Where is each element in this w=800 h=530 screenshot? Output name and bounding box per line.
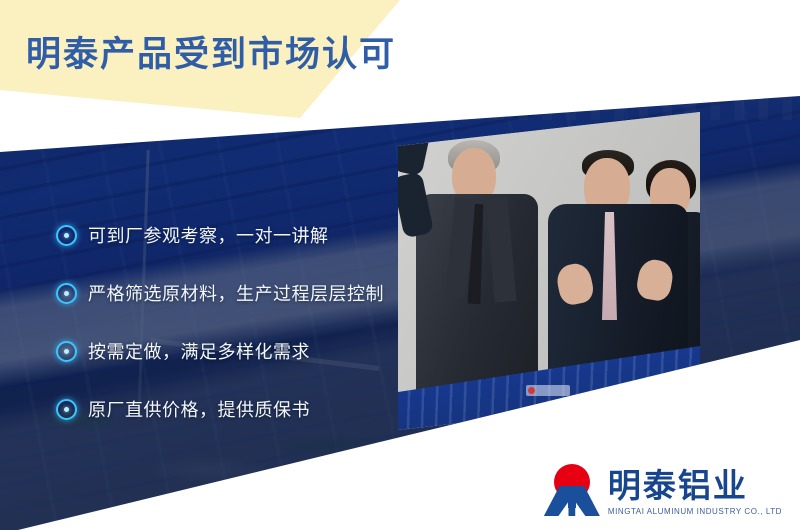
logo-company-name-cn: 明泰铝业 [608,469,782,504]
feature-text: 可到厂参观考察，一对一讲解 [88,222,329,248]
target-ring-icon [56,283,77,304]
logo-company-name-en: MINGTAI ALUMINUM INDUSTRY CO., LTD [608,507,782,516]
company-logo: 明泰铝业 MINGTAI ALUMINUM INDUSTRY CO., LTD [544,464,782,516]
list-item: 按需定做，满足多样化需求 [56,322,396,380]
feature-text: 按需定做，满足多样化需求 [88,338,310,364]
list-item: 可到厂参观考察，一对一讲解 [56,206,396,264]
target-ring-icon [56,399,77,420]
feature-text: 原厂直供价格，提供质保书 [88,396,310,422]
cross-icon [568,486,576,508]
promo-banner: 明泰产品受到市场认可 可到厂参观考察，一对一讲解 严格筛选原材料，生产过程层层控… [0,0,800,530]
target-ring-icon [56,341,77,362]
photo-factory-signage [526,385,570,396]
list-item: 严格筛选原材料，生产过程层层控制 [56,264,396,322]
page-title: 明泰产品受到市场认可 [26,26,396,77]
feature-text: 严格筛选原材料，生产过程层层控制 [88,280,384,306]
mingtai-mark-icon [544,464,600,516]
list-item: 原厂直供价格，提供质保书 [56,380,396,438]
logo-text-block: 明泰铝业 MINGTAI ALUMINUM INDUSTRY CO., LTD [608,469,782,516]
feature-list: 可到厂参观考察，一对一讲解 严格筛选原材料，生产过程层层控制 按需定做，满足多样… [56,206,396,438]
target-ring-icon [56,225,77,246]
